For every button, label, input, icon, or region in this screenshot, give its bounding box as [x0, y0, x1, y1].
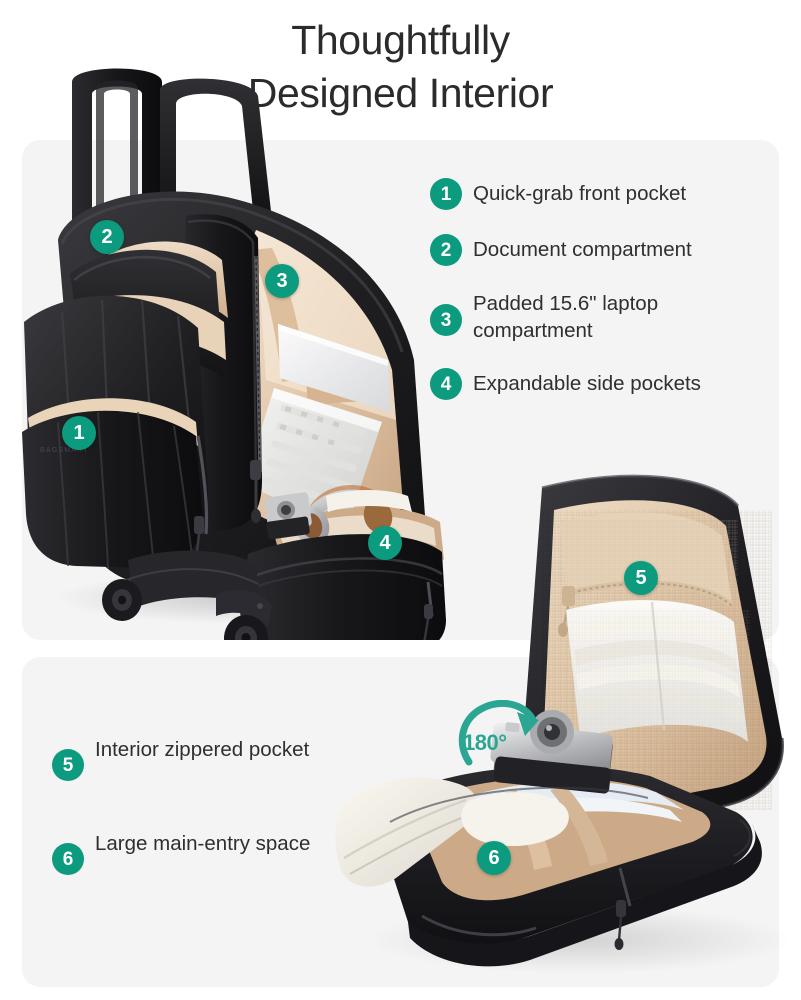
- title-line-1: Thoughtfully: [291, 17, 510, 63]
- infographic-page: Thoughtfully Designed Interior: [0, 0, 801, 1000]
- photo-badge-3: 3: [265, 264, 299, 298]
- feature-badge-2: 2: [430, 234, 462, 266]
- feature-item-4: 4 Expandable side pockets: [430, 368, 770, 400]
- photo-badge-4: 4: [368, 526, 402, 560]
- photo-badge-1: 1: [62, 416, 96, 450]
- photo-badge-5: 5: [624, 561, 658, 595]
- feature-item-6: 6 Large main-entry space: [52, 829, 352, 875]
- photo-badge-2: 2: [90, 220, 124, 254]
- feature-label-3: Padded 15.6" laptop compartment: [473, 290, 770, 344]
- wheel-rear: [102, 579, 142, 621]
- feature-item-3: 3 Padded 15.6" laptop compartment: [430, 290, 770, 344]
- feature-label-4: Expandable side pockets: [473, 368, 701, 397]
- feature-list-bottom: 5 Interior zippered pocket 6 Large main-…: [52, 735, 352, 923]
- feature-item-5: 5 Interior zippered pocket: [52, 735, 352, 781]
- feature-badge-3: 3: [430, 304, 462, 336]
- photo-badge-6: 6: [477, 841, 511, 875]
- feature-badge-1: 1: [430, 178, 462, 210]
- feature-label-6: Large main-entry space: [95, 829, 310, 858]
- feature-badge-4: 4: [430, 368, 462, 400]
- feature-item-1: 1 Quick-grab front pocket: [430, 178, 770, 210]
- rotation-label: 180°: [463, 730, 507, 756]
- feature-badge-5: 5: [52, 749, 84, 781]
- feature-item-2: 2 Document compartment: [430, 234, 770, 266]
- feature-label-1: Quick-grab front pocket: [473, 178, 686, 207]
- feature-list-top: 1 Quick-grab front pocket 2 Document com…: [430, 178, 770, 400]
- rotation-indicator: 180°: [455, 700, 547, 772]
- feature-badge-6: 6: [52, 843, 84, 875]
- feature-label-2: Document compartment: [473, 234, 692, 263]
- feature-label-5: Interior zippered pocket: [95, 735, 309, 764]
